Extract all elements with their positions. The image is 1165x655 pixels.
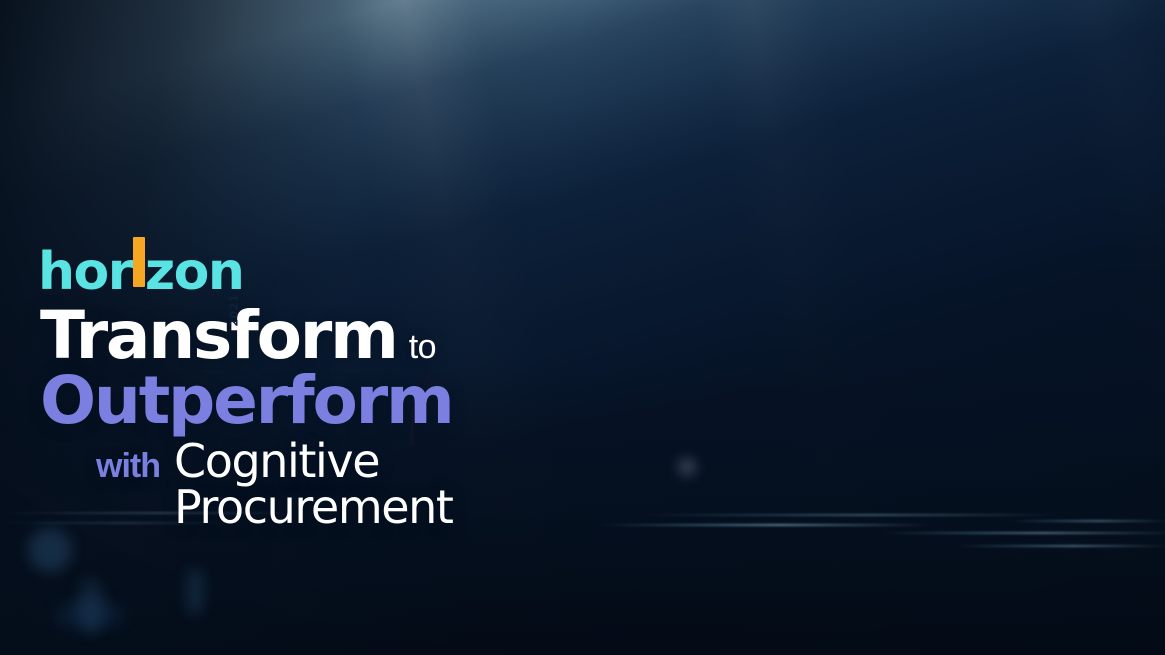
- headline-outperform: Outperform: [40, 362, 453, 439]
- headline-line-3: withCognitive: [96, 439, 678, 483]
- logo-text-part-2: zon: [145, 242, 244, 302]
- logo-text-part-1: hor: [38, 242, 132, 302]
- logo-i-stem: [133, 237, 145, 287]
- logo-year: 2021: [228, 294, 239, 327]
- slide-stage: horzon 2021 Transformto Outperform withC…: [0, 0, 1165, 655]
- headline-procurement: Procurement: [174, 480, 453, 534]
- horizon-logo-wordmark: horzon 2021: [38, 246, 243, 298]
- headline-line-1: Transformto: [40, 304, 678, 367]
- headline-line-4: Procurement: [174, 485, 678, 529]
- headline-block: Transformto Outperform withCognitive Pro…: [38, 304, 678, 529]
- headline-to: to: [409, 328, 436, 366]
- horizon-logo[interactable]: horzon 2021: [38, 246, 243, 298]
- hero-content: horzon 2021 Transformto Outperform withC…: [38, 246, 678, 529]
- headline-with: with: [96, 447, 160, 485]
- headline-line-2: Outperform: [40, 369, 678, 432]
